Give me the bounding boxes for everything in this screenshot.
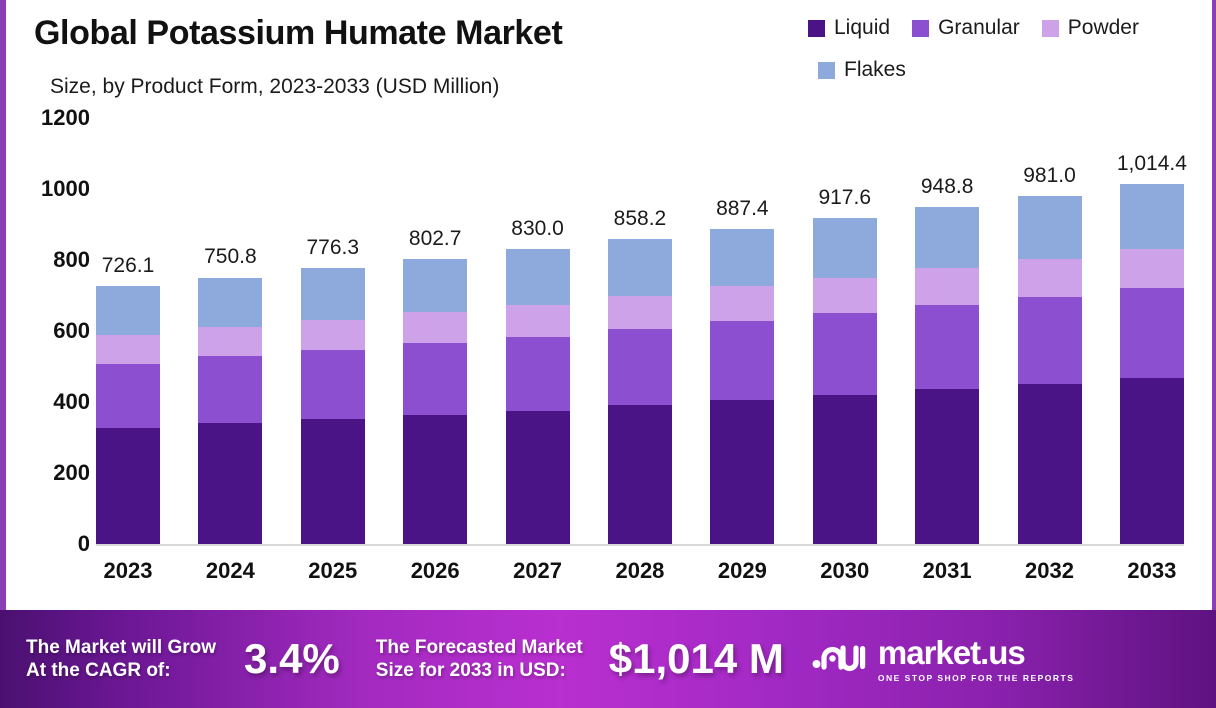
bar-segment-liquid[interactable] (915, 389, 979, 544)
legend-swatch-liquid (808, 20, 825, 37)
legend-swatch-powder (1042, 20, 1059, 37)
bar-segment-liquid[interactable] (608, 405, 672, 544)
x-axis: 2023202420252026202720282029203020312032… (96, 558, 1184, 584)
bar-segment-liquid[interactable] (96, 428, 160, 544)
bar-segment-liquid[interactable] (198, 423, 262, 544)
bar-segment-powder[interactable] (608, 296, 672, 330)
bar-total-label: 887.4 (716, 197, 769, 221)
bar-stack (506, 249, 570, 544)
axis-baseline (96, 544, 1184, 546)
bar-stack (403, 259, 467, 544)
legend-label-liquid: Liquid (834, 16, 890, 40)
brand-logo[interactable]: market.us ONE STOP SHOP FOR THE REPORTS (812, 636, 1075, 683)
bar-group[interactable]: 776.3 (301, 118, 365, 544)
bar-segment-flakes[interactable] (1018, 196, 1082, 259)
legend-label-powder: Powder (1068, 16, 1139, 40)
bar-segment-flakes[interactable] (710, 229, 774, 286)
bar-segment-liquid[interactable] (403, 415, 467, 544)
bar-segment-flakes[interactable] (96, 286, 160, 335)
x-axis-tick: 2027 (506, 558, 570, 584)
bar-total-label: 726.1 (102, 254, 155, 278)
bar-total-label: 858.2 (614, 207, 667, 231)
bottom-banner: The Market will Grow At the CAGR of: 3.4… (0, 610, 1216, 708)
legend-item-liquid[interactable]: Liquid (808, 16, 890, 40)
bar-group[interactable]: 750.8 (198, 118, 262, 544)
bar-segment-powder[interactable] (96, 335, 160, 363)
market-us-logo-icon (812, 637, 870, 682)
legend-label-granular: Granular (938, 16, 1020, 40)
y-axis-tick: 200 (53, 460, 90, 486)
y-axis-tick: 1200 (41, 105, 90, 131)
x-axis-tick: 2032 (1018, 558, 1082, 584)
x-axis-tick: 2033 (1120, 558, 1184, 584)
forecast-caption: The Forecasted Market Size for 2033 in U… (376, 636, 583, 682)
bar-segment-flakes[interactable] (506, 249, 570, 304)
x-axis-tick: 2026 (403, 558, 467, 584)
bar-total-label: 830.0 (511, 217, 564, 241)
brand-name: market.us (878, 636, 1075, 669)
page-title: Global Potassium Humate Market (34, 14, 562, 53)
bar-segment-granular[interactable] (301, 350, 365, 419)
legend-item-flakes[interactable]: Flakes (818, 58, 906, 82)
bar-segment-liquid[interactable] (710, 400, 774, 544)
bar-segment-liquid[interactable] (813, 395, 877, 544)
bar-group[interactable]: 802.7 (403, 118, 467, 544)
bar-total-label: 917.6 (818, 186, 871, 210)
x-axis-tick: 2025 (301, 558, 365, 584)
bar-segment-granular[interactable] (813, 313, 877, 394)
legend-row-secondary: Flakes (808, 58, 1208, 82)
x-axis-tick: 2024 (198, 558, 262, 584)
bar-group[interactable]: 830.0 (506, 118, 570, 544)
bar-group[interactable]: 948.8 (915, 118, 979, 544)
cagr-block: The Market will Grow At the CAGR of: 3.4… (26, 635, 340, 683)
x-axis-tick: 2030 (813, 558, 877, 584)
bar-stack (608, 239, 672, 544)
x-axis-tick: 2029 (710, 558, 774, 584)
y-axis: 020040060080010001200 (18, 118, 90, 548)
forecast-value: $1,014 M (609, 635, 784, 683)
y-axis-tick: 600 (53, 318, 90, 344)
bar-stack (96, 286, 160, 544)
bar-stack (813, 218, 877, 544)
bar-segment-granular[interactable] (506, 337, 570, 411)
bar-segment-powder[interactable] (506, 305, 570, 337)
bar-segment-granular[interactable] (403, 343, 467, 414)
bar-stack (915, 207, 979, 544)
cagr-caption: The Market will Grow At the CAGR of: (26, 636, 216, 682)
bar-stack (198, 278, 262, 545)
bar-segment-flakes[interactable] (198, 278, 262, 327)
bar-segment-granular[interactable] (1018, 297, 1082, 384)
bar-group[interactable]: 917.6 (813, 118, 877, 544)
bar-segment-powder[interactable] (198, 327, 262, 356)
bar-segment-liquid[interactable] (301, 419, 365, 544)
bar-group[interactable]: 887.4 (710, 118, 774, 544)
y-axis-tick: 800 (53, 247, 90, 273)
bar-segment-powder[interactable] (1120, 249, 1184, 289)
bar-segment-powder[interactable] (710, 286, 774, 321)
bar-segment-powder[interactable] (403, 312, 467, 343)
bar-segment-granular[interactable] (710, 321, 774, 400)
bar-segment-flakes[interactable] (403, 259, 467, 312)
forecast-block: The Forecasted Market Size for 2033 in U… (376, 635, 784, 683)
bar-group[interactable]: 858.2 (608, 118, 672, 544)
bars-container: 726.1750.8776.3802.7830.0858.2887.4917.6… (96, 118, 1184, 544)
bar-group[interactable]: 981.0 (1018, 118, 1082, 544)
bar-total-label: 776.3 (307, 236, 360, 260)
legend-item-powder[interactable]: Powder (1042, 16, 1139, 40)
legend-swatch-granular (912, 20, 929, 37)
bar-segment-liquid[interactable] (506, 411, 570, 544)
y-axis-tick: 400 (53, 389, 90, 415)
bar-total-label: 981.0 (1023, 164, 1076, 188)
bar-segment-flakes[interactable] (915, 207, 979, 267)
bar-total-label: 750.8 (204, 245, 257, 269)
chart-subtitle: Size, by Product Form, 2023-2033 (USD Mi… (50, 75, 499, 99)
bar-total-label: 1,014.4 (1117, 152, 1187, 176)
bar-segment-granular[interactable] (96, 364, 160, 428)
bar-segment-powder[interactable] (1018, 259, 1082, 297)
plot-area: 020040060080010001200 726.1750.8776.3802… (0, 118, 1216, 608)
bar-segment-flakes[interactable] (301, 268, 365, 320)
bar-segment-flakes[interactable] (813, 218, 877, 277)
bar-segment-liquid[interactable] (1018, 384, 1082, 544)
brand-tagline: ONE STOP SHOP FOR THE REPORTS (878, 673, 1075, 683)
bar-total-label: 802.7 (409, 227, 462, 251)
brand-text: market.us ONE STOP SHOP FOR THE REPORTS (878, 636, 1075, 683)
legend-swatch-flakes (818, 62, 835, 79)
x-axis-tick: 2031 (915, 558, 979, 584)
bar-stack (301, 268, 365, 544)
bar-segment-powder[interactable] (915, 268, 979, 305)
legend-item-granular[interactable]: Granular (912, 16, 1020, 40)
chart-legend: Liquid Granular Powder Flakes (808, 16, 1208, 82)
y-axis-tick: 0 (78, 531, 90, 557)
bar-total-label: 948.8 (921, 175, 974, 199)
bar-stack (1120, 184, 1184, 544)
bar-stack (1018, 196, 1082, 544)
legend-row-primary: Liquid Granular Powder (808, 16, 1208, 40)
bar-segment-flakes[interactable] (1120, 184, 1184, 249)
bar-segment-granular[interactable] (1120, 288, 1184, 378)
bar-segment-granular[interactable] (198, 356, 262, 423)
bar-group[interactable]: 726.1 (96, 118, 160, 544)
bar-segment-granular[interactable] (915, 305, 979, 389)
bar-segment-granular[interactable] (608, 329, 672, 405)
infographic-root: Global Potassium Humate Market Size, by … (0, 0, 1216, 708)
bar-stack (710, 229, 774, 544)
bar-segment-flakes[interactable] (608, 239, 672, 295)
x-axis-tick: 2023 (96, 558, 160, 584)
cagr-value: 3.4% (244, 635, 340, 683)
bar-group[interactable]: 1,014.4 (1120, 118, 1184, 544)
y-axis-tick: 1000 (41, 176, 90, 202)
bar-segment-powder[interactable] (301, 320, 365, 350)
bar-segment-liquid[interactable] (1120, 378, 1184, 544)
bar-segment-powder[interactable] (813, 278, 877, 314)
x-axis-tick: 2028 (608, 558, 672, 584)
legend-label-flakes: Flakes (844, 58, 906, 82)
